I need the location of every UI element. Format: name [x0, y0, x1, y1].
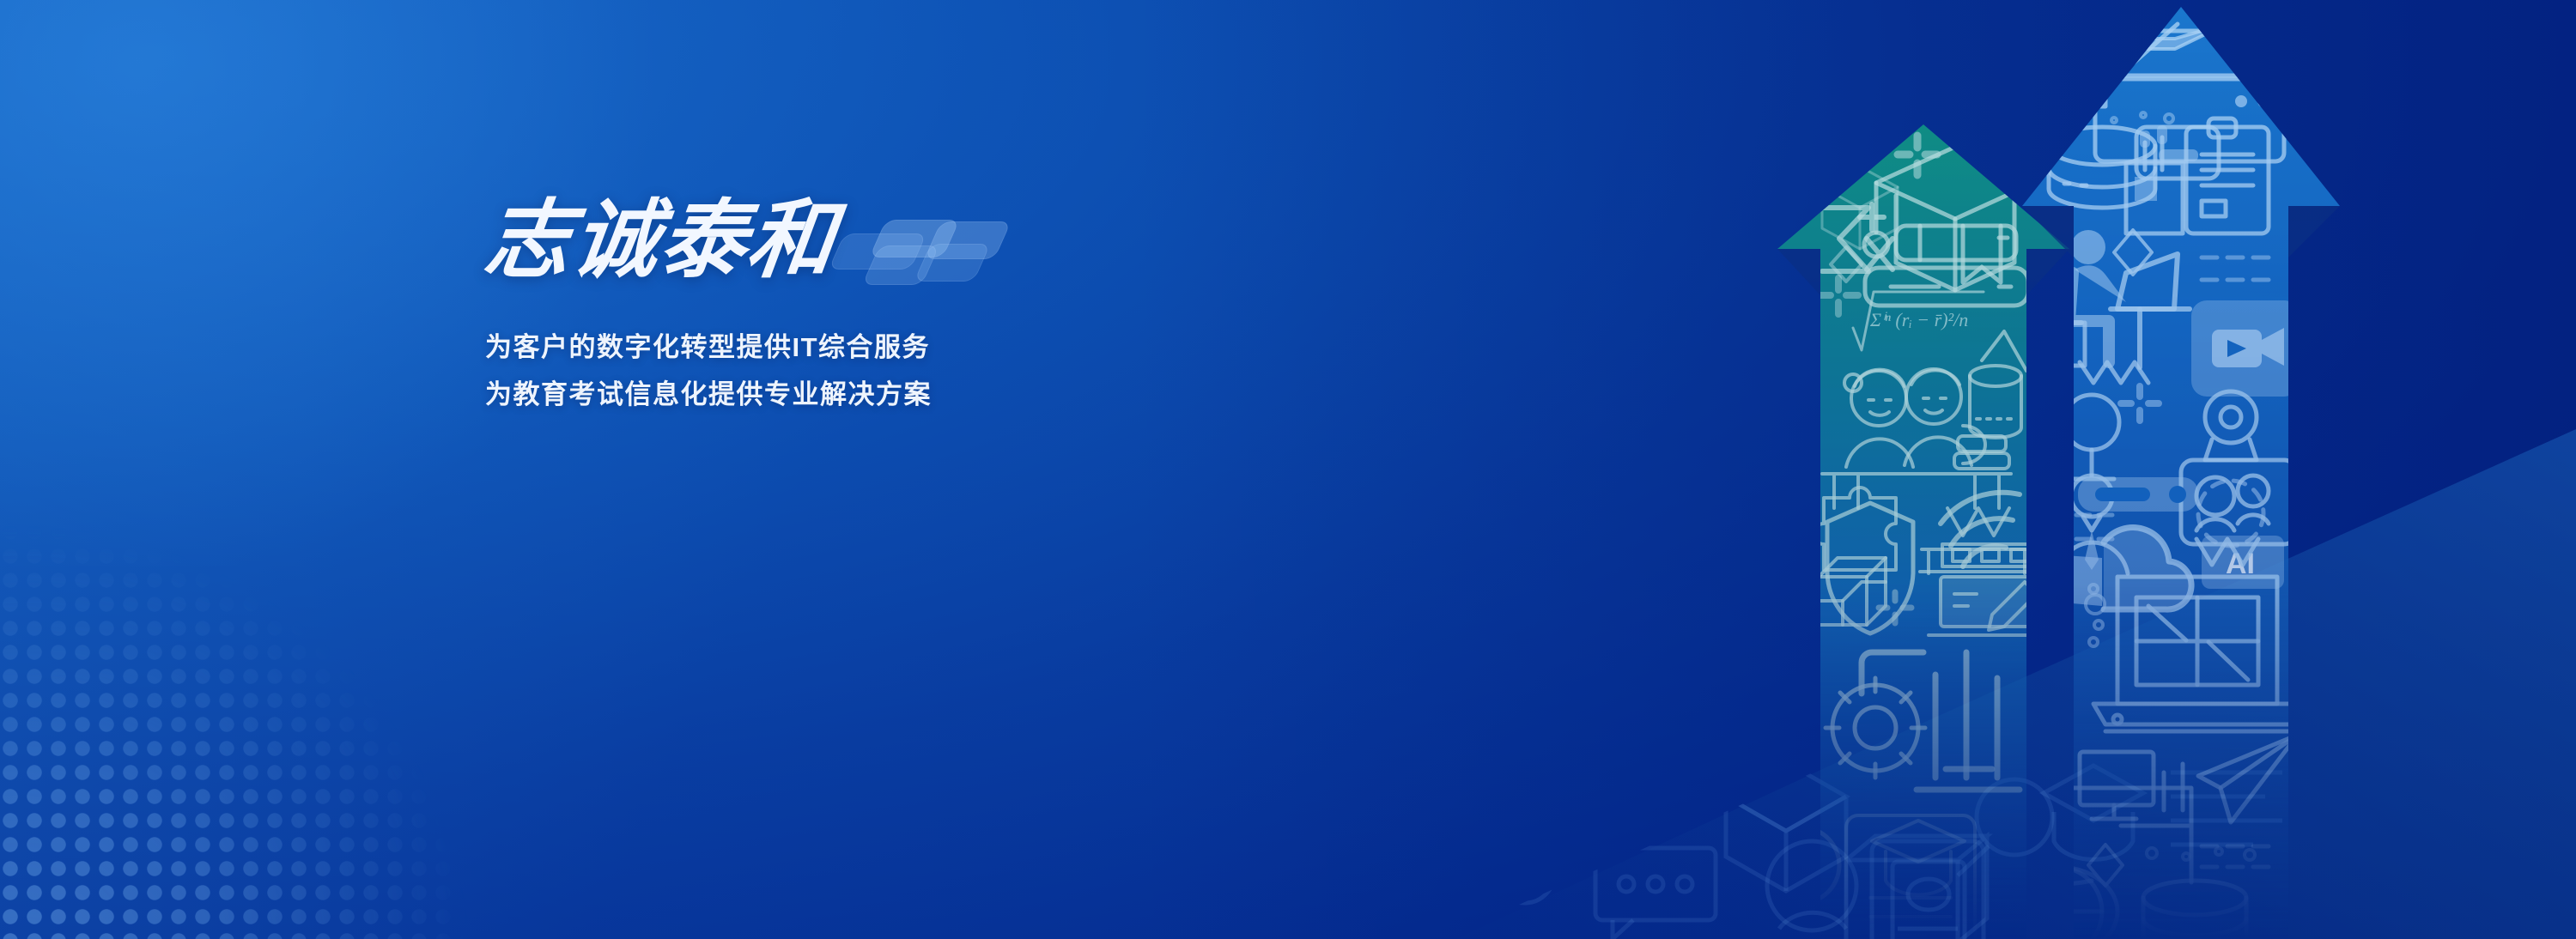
arrow-illustration: Σⁱⁿ (rᵢ − r̄)²/n — [1443, 0, 2576, 939]
brand-title-row: 志诚泰和 — [485, 197, 932, 309]
svg-text:Σⁱⁿ (rᵢ − r̄)²/n: Σⁱⁿ (rᵢ − r̄)²/n — [1869, 309, 1968, 330]
hero-banner: Σⁱⁿ (rᵢ − r̄)²/n — [0, 0, 2576, 939]
brand-block: 志诚泰和 为客户的数字化转型提供IT综合服务 为教育考试信息化提供专业解决方案 — [485, 197, 932, 409]
video-camera-icon — [2191, 300, 2300, 397]
signature-pad-icon — [1929, 577, 2042, 635]
logo-mark-icon — [833, 216, 987, 285]
router-icon — [2078, 477, 2198, 512]
page-title: 志诚泰和 — [480, 197, 841, 283]
tagline-line-1: 为客户的数字化转型提供IT综合服务 — [485, 333, 932, 363]
tagline-block: 为客户的数字化转型提供IT综合服务 为教育考试信息化提供专业解决方案 — [485, 333, 932, 409]
tagline-line-2: 为教育考试信息化提供专业解决方案 — [485, 380, 932, 410]
